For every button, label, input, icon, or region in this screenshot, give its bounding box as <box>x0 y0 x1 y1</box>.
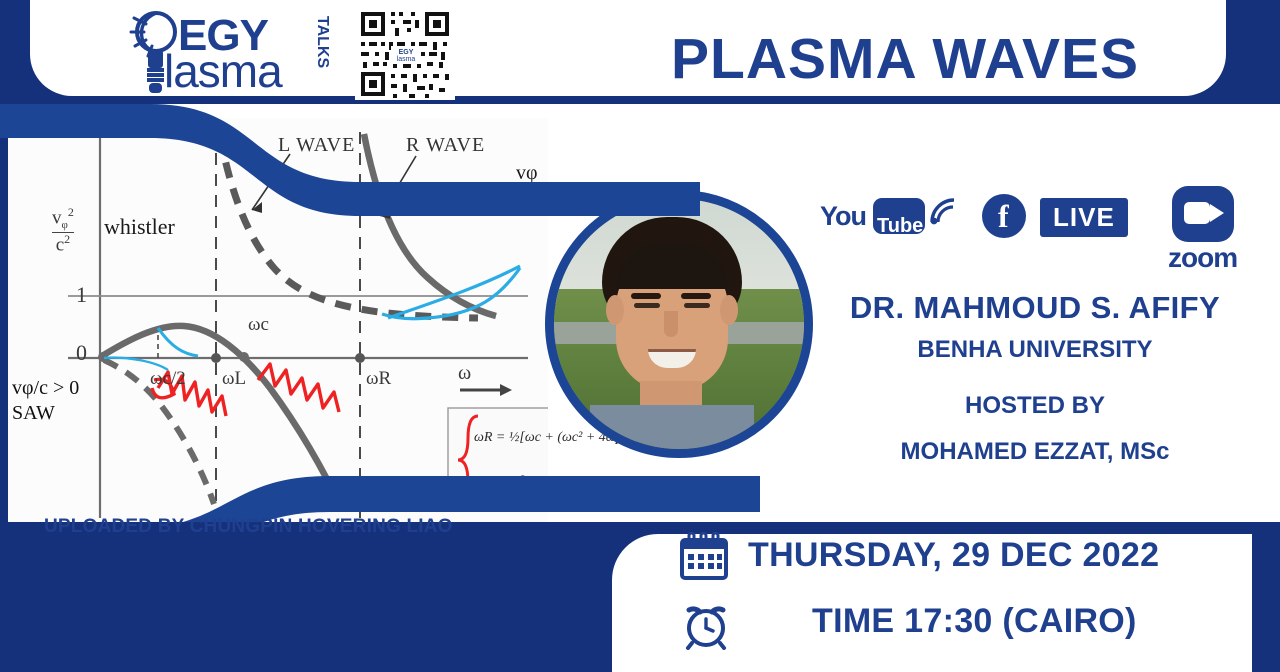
event-time: TIME 17:30 (CAIRO) <box>812 602 1137 641</box>
zoom-icon[interactable] <box>1172 186 1234 242</box>
broadcast-waves-icon <box>928 196 962 226</box>
broadcast-channels: You Tube f LIVE zoom <box>810 186 1170 278</box>
live-badge: LIVE <box>1040 198 1128 237</box>
x-tick-omega-R: ωR <box>366 368 391 390</box>
x-tick-omega-c-half: ωc/2 <box>150 368 186 390</box>
facebook-icon[interactable]: f <box>982 194 1026 238</box>
webinar-poster: vφ2 c2 1 0 whistler L WAVE R WAVE vφ > c… <box>0 0 1280 672</box>
whistler-label: whistler <box>104 214 175 240</box>
event-date: THURSDAY, 29 DEC 2022 <box>748 536 1159 575</box>
x-tick-omega-c: ωc <box>248 314 269 336</box>
decorative-scurve-top <box>0 96 700 216</box>
footer-right-edge <box>1252 522 1280 672</box>
logo-word-plasma: lasma <box>164 48 282 94</box>
photo-brow-left <box>631 293 661 299</box>
saw-label-line2: SAW <box>12 402 55 424</box>
photo-eye-left <box>634 303 660 308</box>
chart-caption: UPLOADED BY CHUNGPIN HOVERING LIAO <box>44 516 453 538</box>
y-tick-0: 0 <box>76 340 87 366</box>
photo-ear-right <box>720 295 738 325</box>
youtube-tube-text: Tube <box>877 215 923 238</box>
zoom-label: zoom <box>1168 242 1237 274</box>
saw-label: vφ/c > 0 SAW <box>12 376 79 426</box>
photo-nose <box>664 311 678 337</box>
node-omega-c <box>239 352 249 362</box>
photo-ear-left <box>606 295 624 325</box>
node-omega-R <box>355 353 365 363</box>
qr-code-icon[interactable]: EGY lasma <box>355 8 455 100</box>
photo-brow-right <box>681 293 711 299</box>
page-title: PLASMA WAVES <box>560 26 1250 92</box>
hosted-by-label: HOSTED BY <box>800 392 1270 420</box>
logo-word-talks: TALKS <box>305 16 331 68</box>
speaker-avatar <box>545 190 813 458</box>
saw-label-line1: vφ/c > 0 <box>12 377 79 399</box>
zoom-camera-body <box>1184 202 1210 224</box>
facebook-letter: f <box>998 200 1009 232</box>
youtube-you-text: You <box>820 201 866 231</box>
x-axis-label: ω <box>458 362 471 385</box>
calendar-icon <box>678 532 730 582</box>
brand-logo[interactable]: EGY lasma TALKS <box>120 6 340 98</box>
host-name: MOHAMED EZZAT, MSc <box>800 438 1270 466</box>
svg-text:lasma: lasma <box>397 56 416 63</box>
node-omega-L <box>211 353 221 363</box>
alarm-clock-icon <box>680 598 732 650</box>
x-tick-omega-L: ωL <box>222 368 246 390</box>
y-tick-1: 1 <box>76 282 87 308</box>
youtube-icon[interactable]: You Tube <box>820 198 925 234</box>
speaker-name: DR. MAHMOUD S. AFIFY <box>800 290 1270 326</box>
speaker-affiliation: BENHA UNIVERSITY <box>800 336 1270 364</box>
svg-text:EGY: EGY <box>399 49 414 56</box>
photo-eye-right <box>684 303 710 308</box>
photo-shirt <box>590 405 754 455</box>
zoom-camera-lens <box>1210 204 1224 222</box>
